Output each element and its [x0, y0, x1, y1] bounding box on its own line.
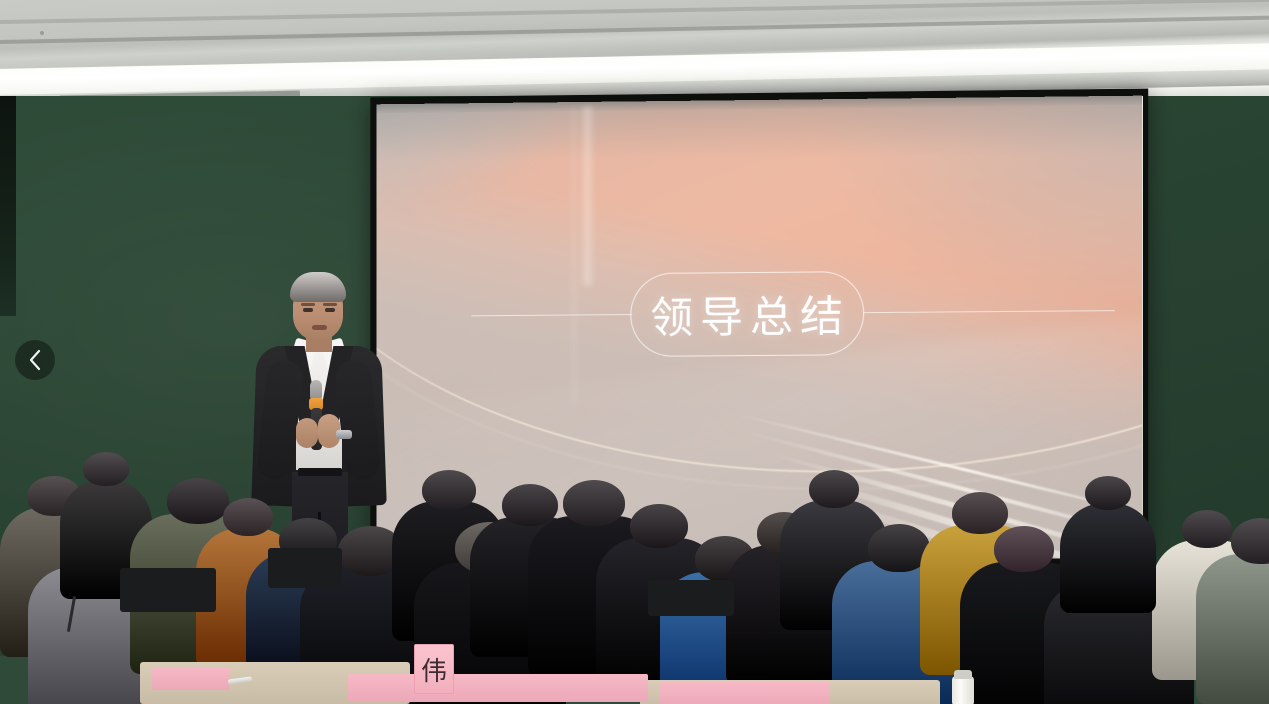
photo-viewer-stage: 领导总结	[0, 0, 1269, 704]
audience-person	[1060, 476, 1156, 620]
laptop	[268, 548, 342, 588]
audience: 伟	[0, 430, 1269, 704]
speaker-eye	[325, 308, 335, 312]
speaker-mouth	[312, 325, 327, 330]
water-bottle	[952, 676, 974, 704]
table-paper	[152, 668, 230, 690]
ceiling-screw	[40, 31, 44, 35]
laptop	[120, 568, 216, 612]
name-placard: 伟	[414, 644, 454, 694]
laptop	[648, 580, 734, 616]
slide-title-pill: 领导总结	[630, 271, 864, 357]
audience-person-head	[83, 452, 129, 486]
audience-person-head	[1085, 476, 1131, 510]
audience-person-body	[1060, 503, 1156, 613]
table-paper	[348, 674, 648, 702]
audience-person-body	[1196, 554, 1269, 704]
speaker-hair	[290, 272, 346, 302]
speaker-eye	[303, 308, 313, 312]
prev-image-button[interactable]	[15, 340, 55, 380]
audience-person-head	[422, 470, 476, 510]
speaker-eyebrow	[301, 303, 315, 306]
speaker-eyebrow	[323, 303, 337, 306]
wall-dark-edge	[0, 96, 16, 316]
table-paper	[660, 682, 830, 704]
water-bottle-cap	[954, 670, 972, 679]
name-placard-text: 伟	[421, 651, 447, 688]
slide-title: 领导总结	[631, 272, 863, 356]
audience-person	[1196, 518, 1269, 704]
chevron-left-icon	[28, 349, 42, 371]
audience-person-head	[809, 470, 859, 508]
